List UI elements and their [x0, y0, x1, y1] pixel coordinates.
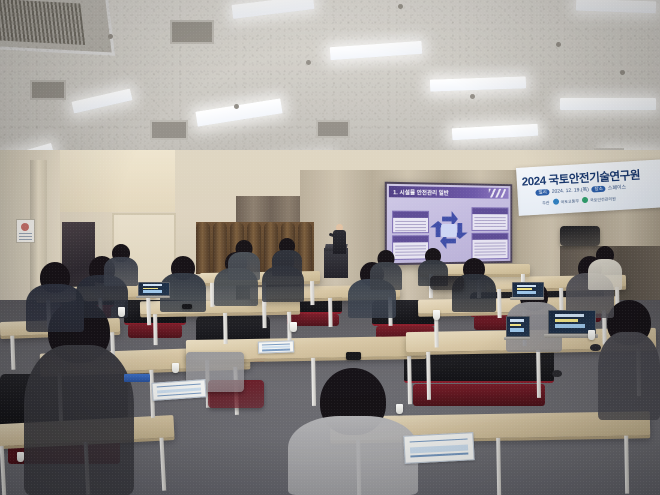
paper-cup — [17, 452, 24, 462]
laptop-left-edge — [506, 316, 528, 340]
paper-cup — [118, 307, 125, 317]
paper-cup — [290, 322, 297, 332]
smartphone — [182, 304, 192, 309]
laptop-mid-left — [138, 282, 168, 298]
desk-objects-layer — [0, 0, 660, 495]
smartphone — [346, 352, 361, 360]
computer-mouse — [552, 370, 562, 377]
dark-bag-mid — [430, 276, 464, 290]
paper-cup — [433, 310, 440, 320]
computer-mouse — [590, 344, 601, 351]
handout-front-left — [151, 379, 206, 401]
tissue-box — [124, 374, 150, 382]
paper-cup — [588, 330, 595, 340]
laptop-right-back — [512, 282, 542, 300]
paper-cup — [396, 404, 403, 414]
black-bag — [560, 226, 600, 246]
handout-mid — [258, 340, 294, 353]
seminar-room-photo: 2024 국토안전기술연구원 일시2024. 12. 19.(목) 장소스페이스… — [0, 0, 660, 495]
paper-cup — [172, 363, 179, 373]
handout-front-center — [403, 432, 474, 464]
